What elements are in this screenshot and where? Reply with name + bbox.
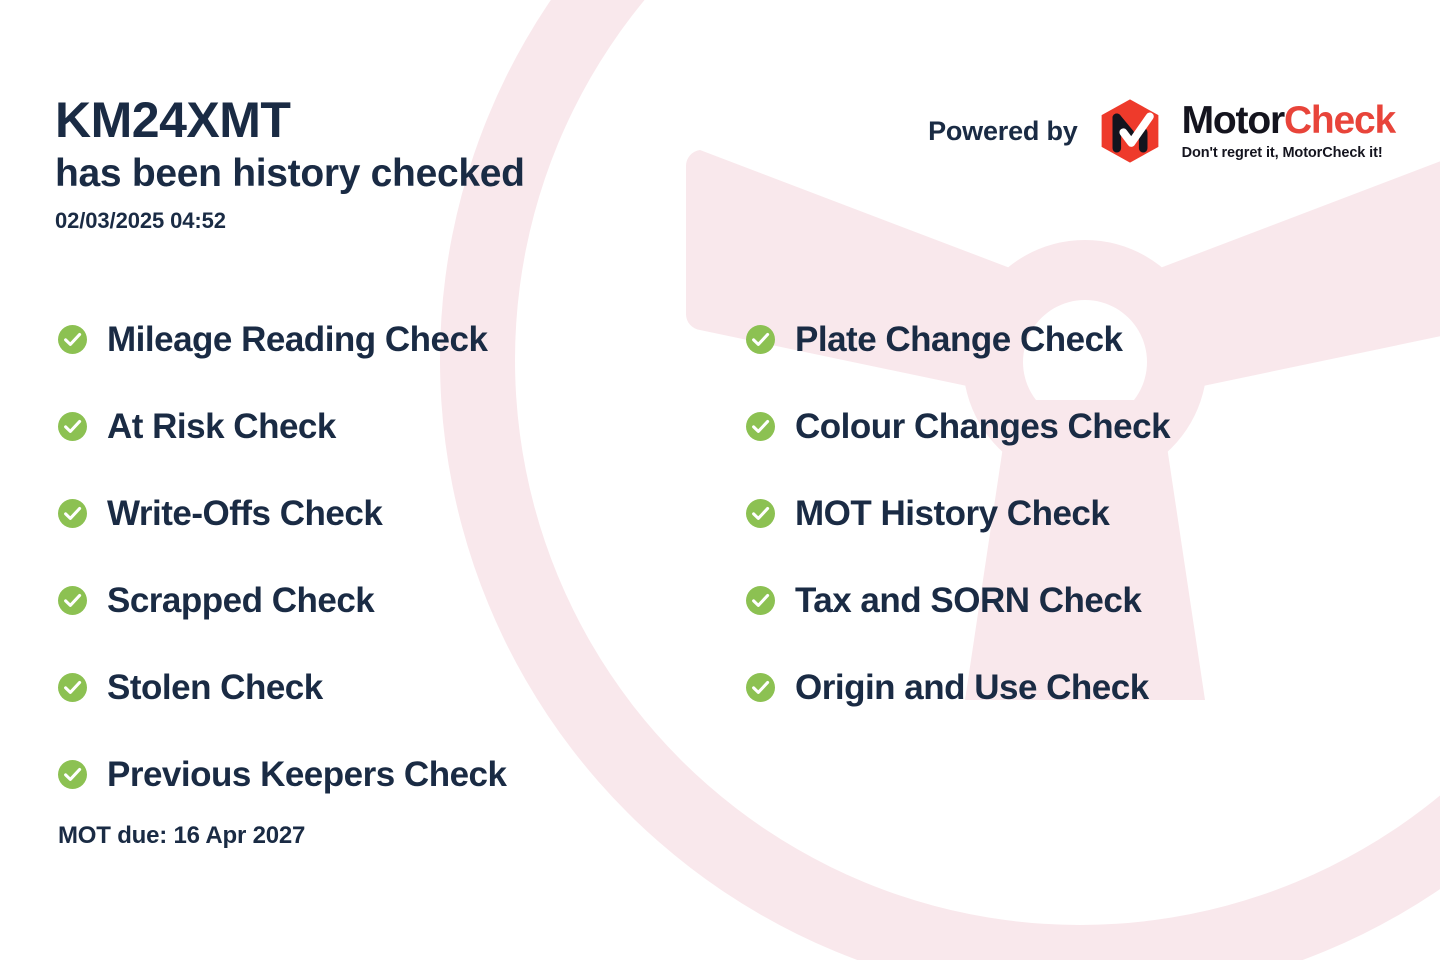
check-timestamp: 02/03/2025 04:52 — [55, 208, 715, 234]
green-check-circle-icon — [746, 325, 775, 354]
list-item: Tax and SORN Check — [746, 557, 1366, 644]
list-item: Colour Changes Check — [746, 383, 1366, 470]
green-check-circle-icon — [746, 499, 775, 528]
motorcheck-hexagon-logo-icon — [1097, 98, 1163, 164]
green-check-circle-icon — [58, 325, 87, 354]
list-item: Scrapped Check — [58, 557, 718, 644]
list-item: At Risk Check — [58, 383, 718, 470]
check-item-label: Stolen Check — [107, 670, 323, 705]
list-item: Previous Keepers Check — [58, 731, 718, 818]
green-check-circle-icon — [58, 673, 87, 702]
report-title-block: KM24XMT has been history checked 02/03/2… — [55, 92, 715, 234]
report-card: KM24XMT has been history checked 02/03/2… — [0, 0, 1440, 960]
list-item: Origin and Use Check — [746, 644, 1366, 731]
page-title: has been history checked — [55, 151, 715, 198]
check-item-label: Plate Change Check — [795, 322, 1123, 357]
brand-tagline: Don't regret it, MotorCheck it! — [1182, 145, 1395, 161]
check-item-label: At Risk Check — [107, 409, 336, 444]
green-check-circle-icon — [58, 760, 87, 789]
green-check-circle-icon — [746, 673, 775, 702]
check-item-label: Mileage Reading Check — [107, 322, 487, 357]
check-item-label: Colour Changes Check — [795, 409, 1170, 444]
check-item-label: MOT History Check — [795, 496, 1109, 531]
green-check-circle-icon — [746, 586, 775, 615]
list-item: Mileage Reading Check — [58, 296, 718, 383]
list-item: Plate Change Check — [746, 296, 1366, 383]
green-check-circle-icon — [58, 412, 87, 441]
green-check-circle-icon — [58, 586, 87, 615]
check-item-label: Origin and Use Check — [795, 670, 1149, 705]
green-check-circle-icon — [58, 499, 87, 528]
check-item-label: Scrapped Check — [107, 583, 374, 618]
motorcheck-wordmark-group: MotorCheck Don't regret it, MotorCheck i… — [1182, 101, 1395, 161]
wordmark-check: Check — [1284, 99, 1395, 142]
list-item: Stolen Check — [58, 644, 718, 731]
check-list-right-column: Plate Change Check Colour Changes Check … — [746, 296, 1366, 731]
check-item-label: Tax and SORN Check — [795, 583, 1141, 618]
green-check-circle-icon — [746, 412, 775, 441]
vehicle-registration-plate: KM24XMT — [55, 92, 715, 149]
motorcheck-wordmark: MotorCheck — [1182, 101, 1395, 140]
mot-due-date: MOT due: 16 Apr 2027 — [58, 822, 305, 850]
check-item-label: Previous Keepers Check — [107, 757, 506, 792]
powered-by-brand-lockup: Powered by MotorCheck Don't regret it, M… — [928, 98, 1395, 164]
powered-by-label: Powered by — [928, 116, 1078, 147]
wordmark-motor: Motor — [1182, 99, 1284, 142]
check-item-label: Write-Offs Check — [107, 496, 382, 531]
list-item: Write-Offs Check — [58, 470, 718, 557]
check-list-left-column: Mileage Reading Check At Risk Check Writ… — [58, 296, 718, 818]
list-item: MOT History Check — [746, 470, 1366, 557]
